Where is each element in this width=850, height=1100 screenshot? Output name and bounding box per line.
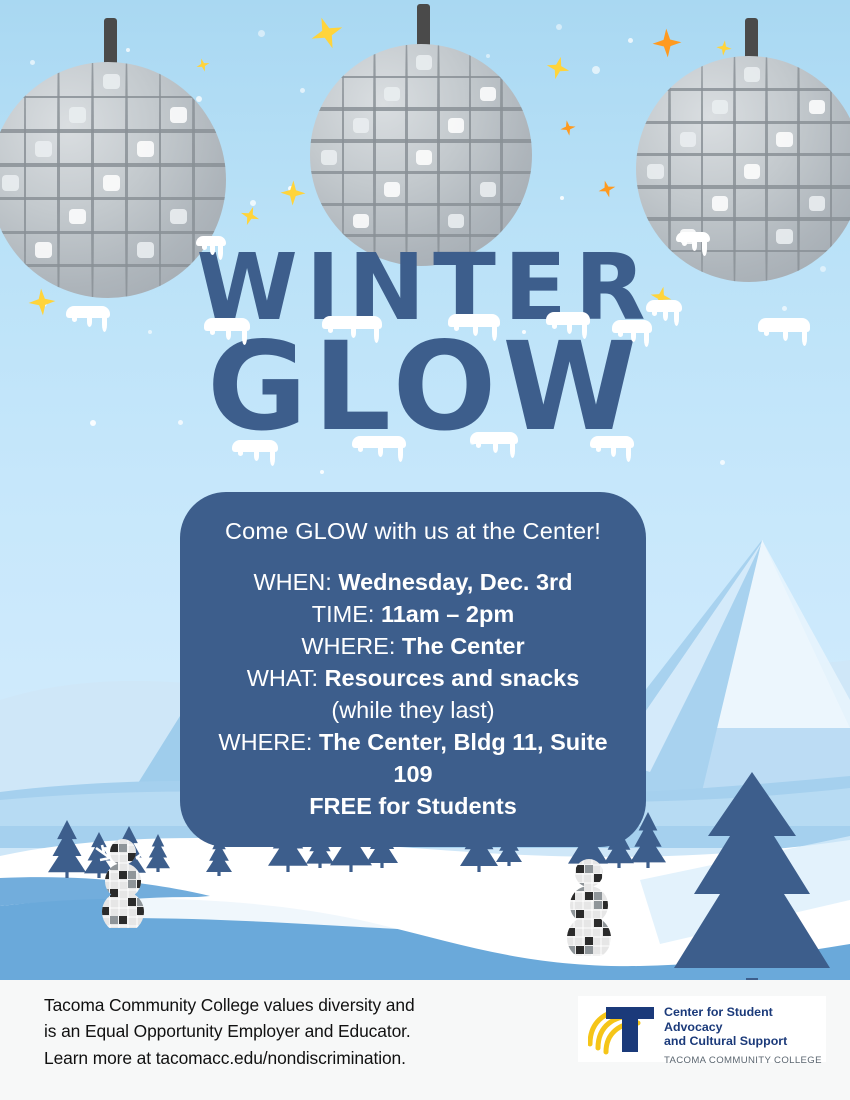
card-row-5: WHERE: The Center, Bldg 11, Suite 109 <box>202 727 624 791</box>
logo-institution: TACOMA COMMUNITY COLLEGE <box>664 1055 822 1066</box>
card-row-label: WHERE: <box>301 633 402 659</box>
tcc-logo-mark <box>588 1004 662 1056</box>
card-row-label: WHERE: <box>218 729 319 755</box>
card-row-0: WHEN: Wednesday, Dec. 3rd <box>202 567 624 599</box>
card-row-value: The Center <box>402 633 525 659</box>
card-row-3: WHAT: Resources and snacks <box>202 663 624 695</box>
card-lede: Come GLOW with us at the Center! <box>202 518 624 545</box>
card-row-6: FREE for Students <box>202 791 624 823</box>
event-info-card: Come GLOW with us at the Center! WHEN: W… <box>180 492 646 847</box>
logo-name-line-1: Center for Student Advocacy <box>664 1005 822 1034</box>
tcc-logo: Center for Student Advocacy and Cultural… <box>578 996 826 1062</box>
nondiscrimination-statement: Tacoma Community College values diversit… <box>44 992 474 1071</box>
snowman-right-figure <box>556 856 622 956</box>
card-row-label: TIME: <box>312 601 381 627</box>
card-row-label: WHEN: <box>253 569 338 595</box>
snowman-left-figure <box>92 836 154 928</box>
card-row-1: TIME: 11am – 2pm <box>202 599 624 631</box>
snowman-right <box>556 856 622 956</box>
statement-line-3: Learn more at tacomacc.edu/nondiscrimina… <box>44 1045 474 1071</box>
card-row-2: WHERE: The Center <box>202 631 624 663</box>
card-row-value: 11am – 2pm <box>381 601 514 627</box>
card-row-value: Wednesday, Dec. 3rd <box>338 569 572 595</box>
statement-line-1: Tacoma Community College values diversit… <box>44 992 474 1018</box>
card-row-4: (while they last) <box>202 695 624 727</box>
card-row-value: Resources and snacks <box>325 665 580 691</box>
winter-glow-flyer: WINTER GLOW <box>0 0 850 1100</box>
snowman-left <box>92 836 154 928</box>
card-detail-rows: WHEN: Wednesday, Dec. 3rdTIME: 11am – 2p… <box>202 567 624 823</box>
tcc-logo-text: Center for Student Advocacy and Cultural… <box>664 1005 822 1066</box>
background-pine-tree <box>48 820 86 878</box>
foreground-pine-tree <box>650 772 850 1000</box>
card-row-label: WHAT: <box>247 665 325 691</box>
logo-name-line-2: and Cultural Support <box>664 1034 822 1049</box>
card-row-value: The Center, Bldg 11, Suite 109 <box>319 729 608 787</box>
statement-line-2: is an Equal Opportunity Employer and Edu… <box>44 1018 474 1044</box>
